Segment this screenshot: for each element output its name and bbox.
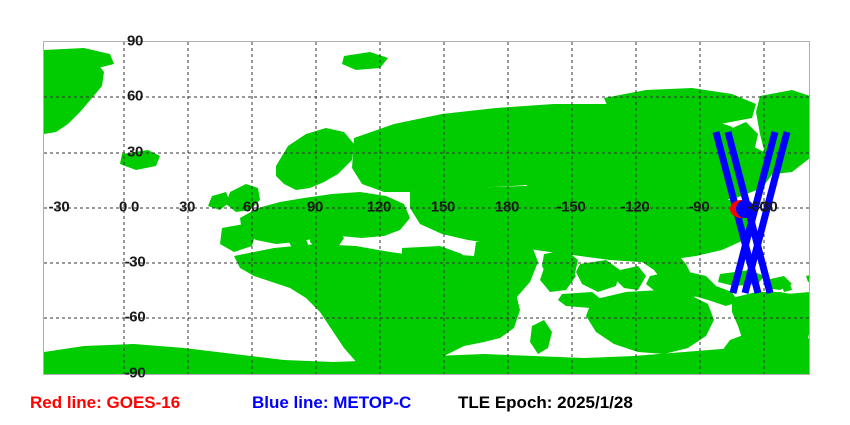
lat-tick-m60: -60 [125,310,146,325]
lat-tick-30: 30 [127,145,143,160]
lon-tick-m30-right: -30 [757,200,778,215]
legend-goes16: Red line: GOES-16 [30,392,180,414]
lon-tick-0: 0 [119,200,127,215]
lon-tick-m30-left: -30 [49,200,70,215]
lat-tick-60: 60 [127,89,143,104]
lon-tick-150: 150 [431,200,455,215]
satellite-ground-track-map: 90 60 30 0 -30 -60 -90 -30 0 30 60 90 12… [0,0,850,425]
lon-tick-120: 120 [367,200,391,215]
legend-caption-row: Red line: GOES-16 Blue line: METOP-C TLE… [0,392,850,422]
lat-tick-m30: -30 [125,255,146,270]
legend-metopc: Blue line: METOP-C [252,392,411,414]
lon-tick-90: 90 [307,200,323,215]
legend-tle-epoch: TLE Epoch: 2025/1/28 [458,392,633,414]
lon-tick-m90: -90 [689,200,710,215]
lon-tick-30: 30 [179,200,195,215]
lat-tick-m90: -90 [125,366,146,381]
lon-tick-m120: -120 [621,200,650,215]
lat-tick-90: 90 [127,34,143,49]
lon-tick-m150: -150 [557,200,586,215]
lat-tick-0: 0 [131,200,139,215]
lon-tick-60: 60 [243,200,259,215]
lon-tick-180: 180 [495,200,519,215]
